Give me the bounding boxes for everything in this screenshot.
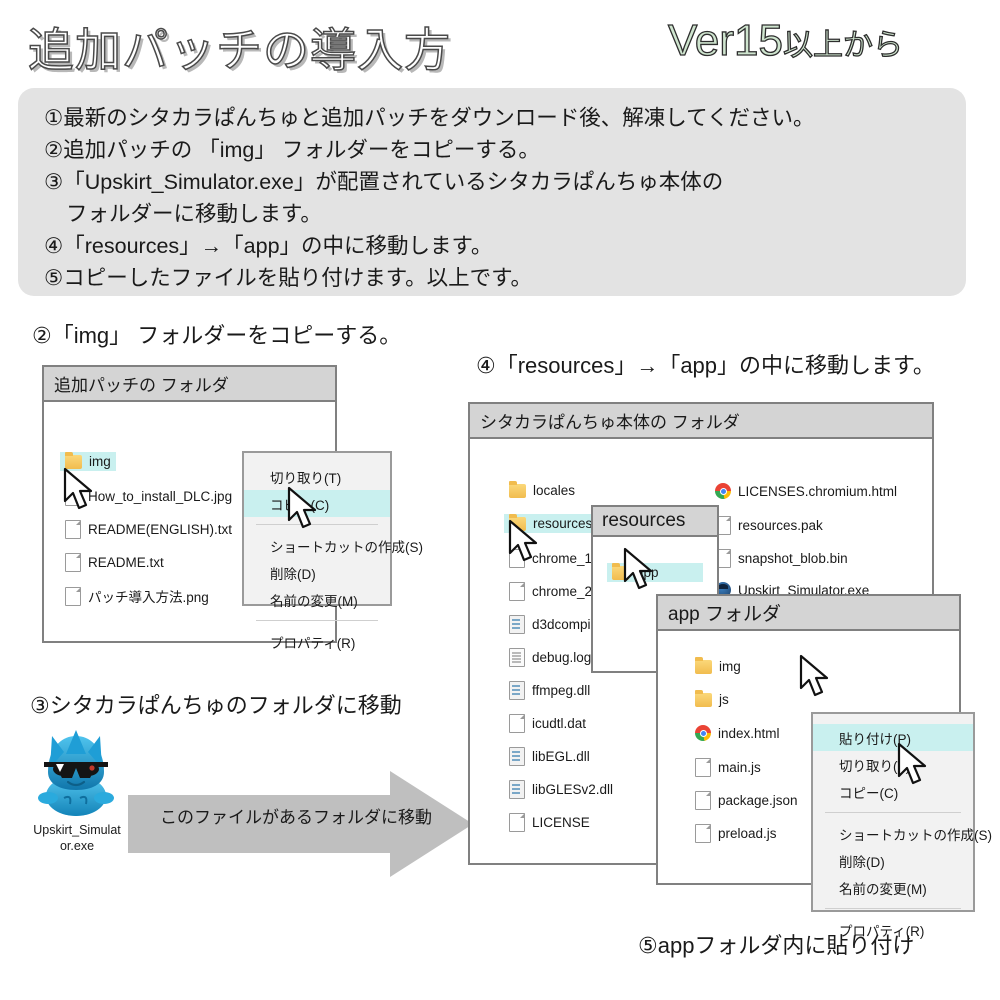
- list-item[interactable]: README(ENGLISH).txt: [60, 518, 237, 541]
- file-name: icudtl.dat: [532, 716, 586, 731]
- menu-item-cut[interactable]: 切り取り(T): [244, 463, 390, 490]
- log-icon: [509, 648, 525, 667]
- menu-item-rename[interactable]: 名前の変更(M): [813, 874, 973, 901]
- caption-step-4: ④「resources」→「app」の中に移動します。: [476, 348, 935, 380]
- instruction-line-6: ⑤コピーしたファイルを貼り付けます。以上です。: [44, 262, 956, 294]
- main-folder-title: シタカラぱんちゅ本体の フォルダ: [470, 404, 932, 439]
- list-item[interactable]: libEGL.dll: [504, 745, 595, 768]
- dll-icon: [509, 780, 525, 799]
- menu-separator: [825, 908, 961, 909]
- list-item[interactable]: libGLESv2.dll: [504, 778, 618, 801]
- file-icon: [509, 714, 525, 733]
- list-item[interactable]: package.json: [690, 789, 803, 812]
- paste-context-menu[interactable]: 貼り付け(P) 切り取り(T) コピー(C) ショートカットの作成(S) 削除(…: [811, 712, 975, 912]
- file-name: locales: [533, 483, 575, 498]
- menu-separator: [256, 620, 378, 621]
- patch-folder-title: 追加パッチの フォルダ: [44, 367, 335, 402]
- list-item[interactable]: LICENSE: [504, 811, 595, 834]
- file-name: README(ENGLISH).txt: [88, 522, 232, 537]
- menu-separator: [825, 812, 961, 813]
- instruction-panel: ①最新のシタカラぱんちゅと追加パッチをダウンロード後、解凍してください。 ②追加…: [18, 88, 966, 296]
- list-item[interactable]: img: [690, 657, 746, 676]
- list-item[interactable]: icudtl.dat: [504, 712, 591, 735]
- instruction-line-3: ③「Upskirt_Simulator.exe」が配置されているシタカラぱんちゅ…: [44, 166, 956, 198]
- menu-item-create-shortcut[interactable]: ショートカットの作成(S): [813, 820, 973, 847]
- menu-item-rename[interactable]: 名前の変更(M): [244, 586, 390, 613]
- file-icon: [65, 587, 81, 606]
- file-name: パッチ導入方法.png: [88, 586, 209, 606]
- file-icon: [695, 791, 711, 810]
- menu-item-properties[interactable]: プロパティ(R): [244, 628, 390, 655]
- file-name: libEGL.dll: [532, 749, 590, 764]
- menu-item-properties[interactable]: プロパティ(R): [813, 916, 973, 943]
- version-badge: Ver15以上から: [668, 16, 903, 66]
- chrome-icon: [695, 725, 711, 741]
- version-suffix: 以上から: [783, 29, 903, 62]
- caption-step-2: ②「img」 フォルダーをコピーする。: [32, 318, 401, 350]
- file-name: README.txt: [88, 555, 164, 570]
- file-icon: [695, 824, 711, 843]
- app-icon-label-line1: Upskirt_Simulat: [12, 822, 142, 838]
- file-name: index.html: [718, 726, 780, 741]
- folder-icon: [509, 484, 526, 498]
- file-icon: [65, 520, 81, 539]
- menu-item-create-shortcut[interactable]: ショートカットの作成(S): [244, 532, 390, 559]
- file-name: debug.log: [532, 650, 591, 665]
- file-name: js: [719, 692, 729, 707]
- menu-item-delete[interactable]: 削除(D): [813, 847, 973, 874]
- instruction-line-5: ④「resources」→「app」の中に移動します。: [44, 230, 956, 262]
- folder-icon: [695, 660, 712, 674]
- file-name: LICENSES.chromium.html: [738, 484, 897, 499]
- app-icon-label: Upskirt_Simulat or.exe: [12, 822, 142, 854]
- move-arrow-label: このファイルがあるフォルダに移動: [160, 803, 432, 828]
- menu-item-delete[interactable]: 削除(D): [244, 559, 390, 586]
- file-name: libGLESv2.dll: [532, 782, 613, 797]
- upskirt-simulator-app-icon[interactable]: [30, 722, 122, 822]
- list-item[interactable]: js: [690, 690, 734, 709]
- instruction-line-2: ②追加パッチの 「img」 フォルダーをコピーする。: [44, 134, 956, 166]
- file-name: preload.js: [718, 826, 777, 841]
- file-icon: [65, 553, 81, 572]
- folder-icon: [695, 693, 712, 707]
- app-folder-title: app フォルダ: [658, 596, 959, 631]
- file-name: img: [89, 454, 111, 469]
- dll-icon: [509, 747, 525, 766]
- list-item[interactable]: ffmpeg.dll: [504, 679, 595, 702]
- menu-item-copy[interactable]: コピー(C): [813, 778, 973, 805]
- resources-folder-title: resources: [593, 507, 717, 537]
- file-icon: [509, 582, 525, 601]
- menu-item-cut[interactable]: 切り取り(T): [813, 751, 973, 778]
- file-name: main.js: [718, 760, 761, 775]
- list-item[interactable]: locales: [504, 481, 580, 500]
- menu-item-paste[interactable]: 貼り付け(P): [813, 724, 973, 751]
- file-name: How_to_install_DLC.jpg: [88, 489, 232, 504]
- instruction-list: ①最新のシタカラぱんちゅと追加パッチをダウンロード後、解凍してください。 ②追加…: [44, 102, 956, 294]
- file-name: ffmpeg.dll: [532, 683, 590, 698]
- list-item[interactable]: preload.js: [690, 822, 782, 845]
- file-icon: [509, 813, 525, 832]
- folder-icon: [65, 455, 82, 469]
- file-name: img: [719, 659, 741, 674]
- list-item[interactable]: LICENSES.chromium.html: [710, 481, 902, 501]
- instruction-line-4: フォルダーに移動します。: [44, 198, 956, 230]
- file-icon: [695, 758, 711, 777]
- list-item[interactable]: snapshot_blob.bin: [710, 547, 853, 570]
- list-item[interactable]: main.js: [690, 756, 766, 779]
- dll-icon: [509, 615, 525, 634]
- instruction-line-1: ①最新のシタカラぱんちゅと追加パッチをダウンロード後、解凍してください。: [44, 102, 956, 134]
- list-item[interactable]: パッチ導入方法.png: [60, 584, 214, 608]
- list-item[interactable]: resources.pak: [710, 514, 828, 537]
- file-name: resources.pak: [738, 518, 823, 533]
- caption-step-3: ③シタカラぱんちゅのフォルダに移動: [30, 688, 402, 720]
- file-name: LICENSE: [532, 815, 590, 830]
- app-icon-label-line2: or.exe: [12, 838, 142, 854]
- dll-icon: [509, 681, 525, 700]
- list-item[interactable]: debug.log: [504, 646, 596, 669]
- version-prefix: Ver15: [668, 16, 783, 65]
- list-item[interactable]: README.txt: [60, 551, 169, 574]
- list-item[interactable]: index.html: [690, 723, 785, 743]
- page-title: 追加パッチの導入方: [28, 14, 451, 80]
- file-name: package.json: [718, 793, 798, 808]
- chrome-icon: [715, 483, 731, 499]
- file-name: snapshot_blob.bin: [738, 551, 848, 566]
